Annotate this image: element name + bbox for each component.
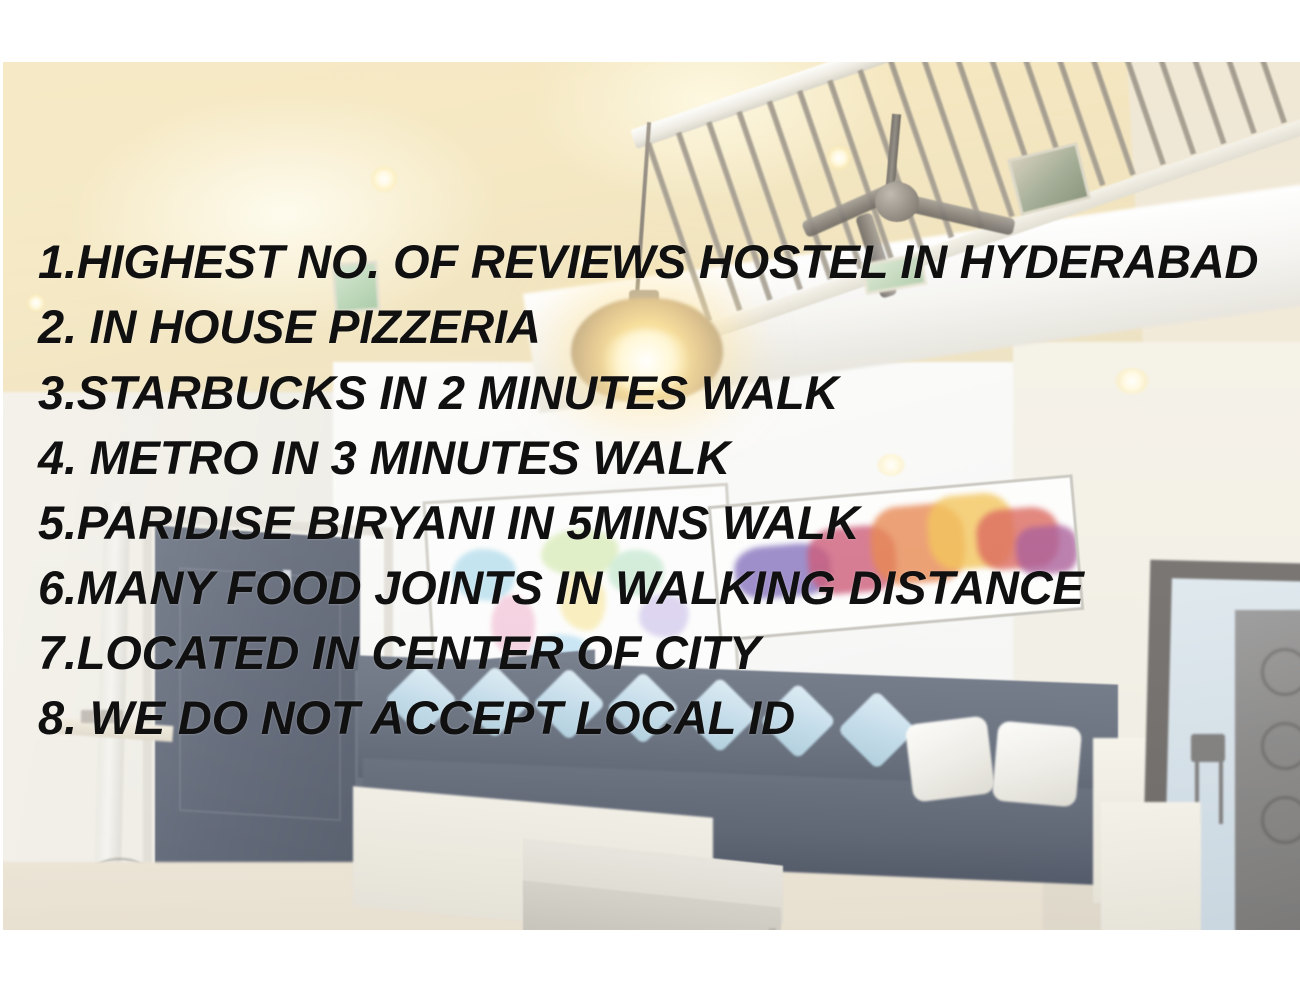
corner-sideboard bbox=[1101, 802, 1201, 930]
cityscape-shape bbox=[1014, 523, 1080, 576]
railing-baluster bbox=[1160, 62, 1227, 145]
ceiling-fan-motor bbox=[875, 182, 919, 222]
map-region bbox=[489, 594, 537, 659]
screenshot-canvas: 1.HIGHEST NO. OF REVIEWS HOSTEL IN HYDER… bbox=[0, 0, 1300, 1000]
map-region bbox=[558, 572, 607, 633]
upper-wall-frame bbox=[331, 260, 380, 313]
recessed-downlight bbox=[827, 146, 851, 170]
recessed-downlight bbox=[371, 166, 397, 192]
pendant-light-glow bbox=[599, 330, 693, 392]
wall-shelf-object bbox=[81, 710, 123, 723]
railing-baluster bbox=[676, 132, 743, 312]
recessed-downlight bbox=[1115, 368, 1149, 394]
throw-pillow bbox=[905, 715, 996, 802]
map-region bbox=[451, 547, 518, 603]
railing-baluster bbox=[706, 121, 773, 301]
railing-baluster bbox=[736, 111, 803, 291]
ceiling-fan bbox=[823, 122, 1043, 262]
throw-pillow bbox=[992, 720, 1083, 807]
coffee-table-leg bbox=[769, 928, 776, 930]
map-region bbox=[607, 548, 666, 597]
ceiling-fan-downrod bbox=[886, 114, 901, 187]
railing-baluster bbox=[1129, 62, 1196, 155]
bar-stool-leg bbox=[1219, 760, 1223, 824]
recessed-downlight bbox=[27, 294, 45, 312]
bar-stool-seat bbox=[1191, 734, 1225, 762]
map-region bbox=[638, 593, 691, 640]
recessed-downlight bbox=[877, 454, 905, 476]
recessed-downlight bbox=[575, 250, 597, 272]
hostel-lounge-photo bbox=[3, 62, 1300, 930]
